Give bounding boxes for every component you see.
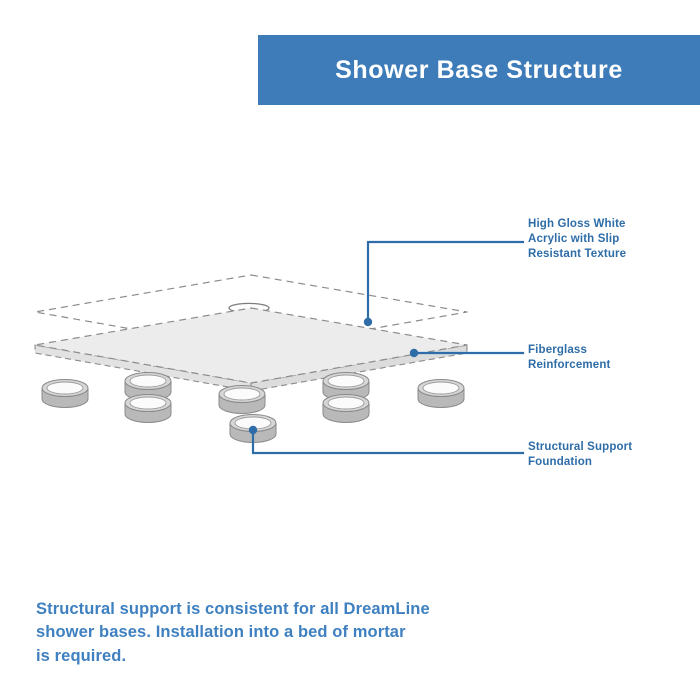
leader-line-acrylic	[368, 242, 523, 322]
support-ring-callout-target	[230, 415, 276, 443]
leader-lines	[249, 242, 523, 453]
title-banner: Shower Base Structure	[258, 35, 700, 105]
support-ring	[219, 386, 265, 414]
leader-line-support	[253, 430, 523, 453]
support-ring	[42, 380, 88, 408]
callout-label-fiberglass: Fiberglass Reinforcement	[528, 343, 610, 373]
callout-label-acrylic: High Gloss White Acrylic with Slip Resis…	[528, 217, 626, 263]
support-ring	[323, 373, 369, 401]
support-ring	[125, 395, 171, 423]
page-title: Shower Base Structure	[335, 56, 623, 85]
support-ring	[418, 380, 464, 408]
support-ring	[125, 373, 171, 401]
acrylic-layer-outline	[35, 275, 467, 350]
callout-label-support: Structural Support Foundation	[528, 440, 632, 470]
fiberglass-slab	[35, 308, 467, 391]
support-ring-group	[42, 373, 464, 443]
bottom-caption: Structural support is consistent for all…	[36, 598, 506, 668]
drain-ellipse	[229, 303, 269, 312]
support-ring	[323, 395, 369, 423]
